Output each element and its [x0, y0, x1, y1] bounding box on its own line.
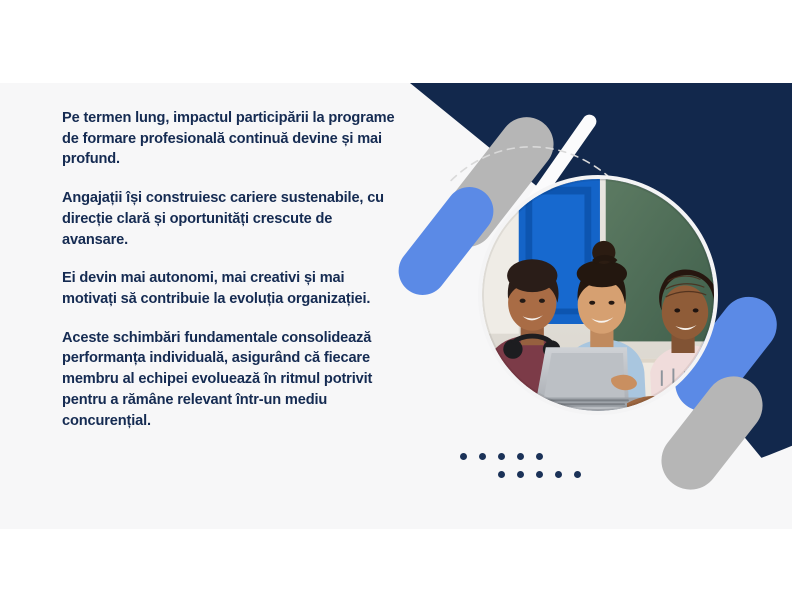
paragraph-4: Aceste schimbări fundamentale consolidea…	[62, 328, 397, 432]
slide: Pe termen lung, impactul participării la…	[0, 83, 792, 529]
dot	[517, 453, 524, 460]
dot	[536, 453, 543, 460]
dot	[479, 453, 486, 460]
dot	[517, 471, 524, 478]
paragraph-3: Ei devin mai autonomi, mai creativi și m…	[62, 268, 397, 309]
page-canvas: Pe termen lung, impactul participării la…	[0, 0, 792, 612]
dot	[498, 471, 505, 478]
text-column: Pe termen lung, impactul participării la…	[62, 108, 397, 431]
dot	[574, 471, 581, 478]
dot	[498, 453, 505, 460]
paragraph-2: Angajații își construiesc cariere susten…	[62, 188, 397, 250]
dot	[536, 471, 543, 478]
circular-photo-frame	[478, 175, 718, 415]
students-photo	[482, 179, 714, 411]
graphic-composition	[380, 83, 792, 529]
dot-grid-decoration	[460, 453, 590, 493]
paragraph-1: Pe termen lung, impactul participării la…	[62, 108, 397, 170]
dot	[555, 471, 562, 478]
dot	[460, 453, 467, 460]
